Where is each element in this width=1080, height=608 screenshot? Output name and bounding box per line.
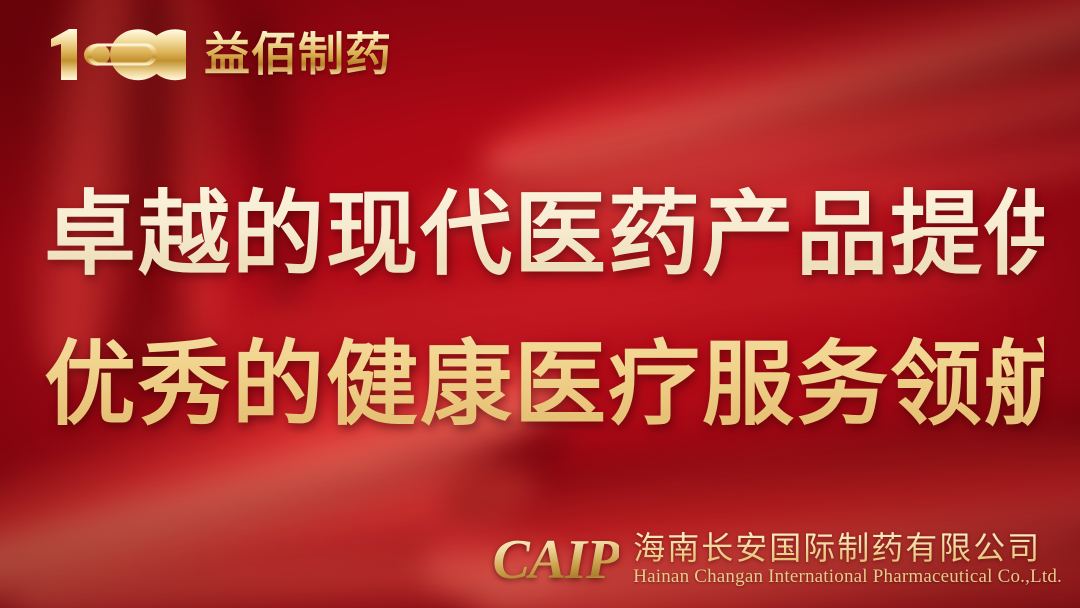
brand-lockup: 益佰制药 — [46, 24, 392, 84]
company-name-cn: 海南长安国际制药有限公司 — [633, 531, 1062, 566]
brand-name: 益佰制药 — [204, 31, 392, 77]
company-lockup: CAIP 海南长安国际制药有限公司 Hainan Changan Interna… — [493, 531, 1063, 592]
caip-wordmark: CAIP — [493, 532, 620, 592]
slogan-line-1: 卓越的现代医药产品提供者， — [44, 160, 1044, 310]
banner-content: 益佰制药 卓越的现代医药产品提供者， 优秀的健康医疗服务领航者。 CAIP 海南… — [0, 0, 1080, 608]
slogan-banner: 益佰制药 卓越的现代医药产品提供者， 优秀的健康医疗服务领航者。 CAIP 海南… — [0, 0, 1080, 608]
company-name-en: Hainan Changan International Pharmaceuti… — [633, 567, 1062, 588]
company-names: 海南长安国际制药有限公司 Hainan Changan Internationa… — [633, 531, 1062, 592]
slogan-block: 卓越的现代医药产品提供者， 优秀的健康医疗服务领航者。 — [44, 160, 1044, 460]
100-infinity-logo — [46, 24, 186, 84]
slogan-line-2: 优秀的健康医疗服务领航者。 — [44, 310, 1044, 460]
